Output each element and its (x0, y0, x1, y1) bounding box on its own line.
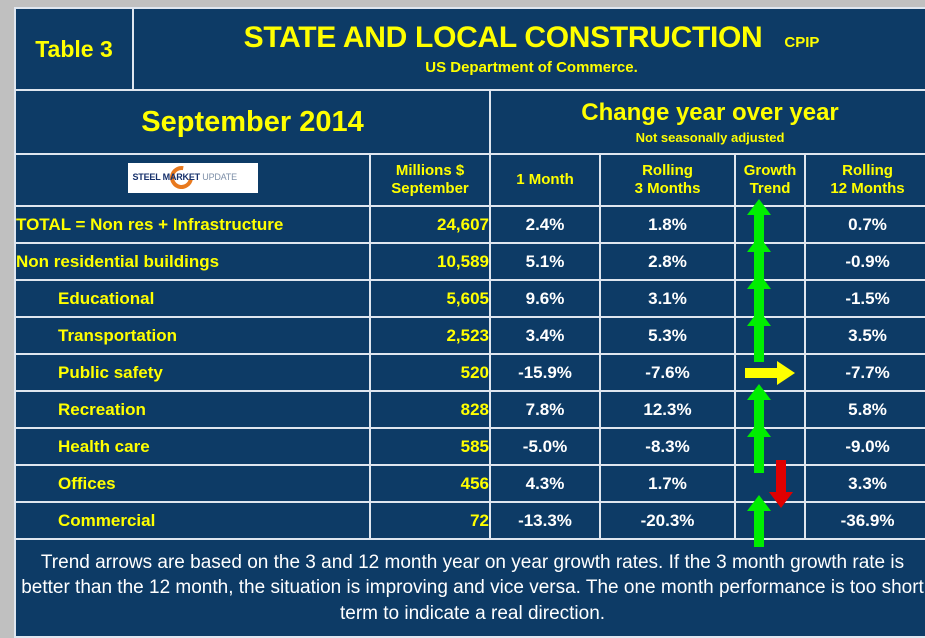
row-label: Recreation (15, 391, 370, 428)
row-rolling-3-months: 1.8% (600, 206, 735, 243)
column-header-amount-line1: Millions $ (371, 162, 489, 180)
row-growth-trend (735, 317, 805, 354)
column-header-amount-line2: September (371, 180, 489, 198)
logo-cell: STEEL MARKET UPDATE (15, 154, 370, 206)
row-rolling-3-months: -20.3% (600, 502, 735, 539)
row-one-month: 9.6% (490, 280, 600, 317)
column-header-growth-line1: Growth (736, 162, 804, 180)
row-rolling-12-months: -36.9% (805, 502, 925, 539)
row-one-month: -5.0% (490, 428, 600, 465)
period-label: September 2014 (16, 106, 489, 139)
row-label: Public safety (15, 354, 370, 391)
row-one-month: 5.1% (490, 243, 600, 280)
table-row: Offices4564.3%1.7%3.3% (15, 465, 925, 502)
cpip-label: CPIP (762, 34, 819, 51)
row-rolling-12-months: 0.7% (805, 206, 925, 243)
column-header-rolling-3-months: Rolling 3 Months (600, 154, 735, 206)
title-subtitle: US Department of Commerce. (134, 59, 925, 76)
table-row: Public safety520-15.9%-7.6%-7.7% (15, 354, 925, 391)
table-row: Non residential buildings10,5895.1%2.8%-… (15, 243, 925, 280)
logo-word-update: UPDATE (202, 172, 237, 182)
period-row: September 2014 Change year over year Not… (15, 90, 925, 154)
column-header-rolling12-line2: 12 Months (806, 180, 925, 198)
column-header-amount: Millions $ September (370, 154, 490, 206)
row-rolling-12-months: 3.3% (805, 465, 925, 502)
row-rolling-3-months: 3.1% (600, 280, 735, 317)
row-rolling-3-months: 12.3% (600, 391, 735, 428)
row-amount: 828 (370, 391, 490, 428)
trend-up-arrow-icon (746, 494, 772, 548)
row-label: Educational (15, 280, 370, 317)
row-label: TOTAL = Non res + Infrastructure (15, 206, 370, 243)
row-amount: 72 (370, 502, 490, 539)
column-header-rolling12-line1: Rolling (806, 162, 925, 180)
row-amount: 585 (370, 428, 490, 465)
row-one-month: 3.4% (490, 317, 600, 354)
row-rolling-3-months: 5.3% (600, 317, 735, 354)
steel-market-update-logo: STEEL MARKET UPDATE (128, 163, 258, 193)
title-row: Table 3 STATE AND LOCAL CONSTRUCTIONCPIP… (15, 8, 925, 90)
period-cell: September 2014 (15, 90, 490, 154)
row-one-month: 2.4% (490, 206, 600, 243)
row-rolling-12-months: -1.5% (805, 280, 925, 317)
row-growth-trend (735, 502, 805, 539)
row-rolling-12-months: 3.5% (805, 317, 925, 354)
logo-word-steel: STEEL (133, 172, 161, 182)
column-header-rolling3-line1: Rolling (601, 162, 734, 180)
table-row: Recreation8287.8%12.3%5.8% (15, 391, 925, 428)
row-amount: 10,589 (370, 243, 490, 280)
row-rolling-12-months: -7.7% (805, 354, 925, 391)
table-row: TOTAL = Non res + Infrastructure24,6072.… (15, 206, 925, 243)
row-rolling-3-months: 2.8% (600, 243, 735, 280)
row-label: Offices (15, 465, 370, 502)
row-rolling-12-months: -9.0% (805, 428, 925, 465)
change-heading: Change year over year (491, 99, 925, 127)
row-amount: 5,605 (370, 280, 490, 317)
row-label: Commercial (15, 502, 370, 539)
title-cell: STATE AND LOCAL CONSTRUCTIONCPIP US Depa… (133, 8, 925, 90)
row-amount: 456 (370, 465, 490, 502)
row-one-month: 4.3% (490, 465, 600, 502)
construction-data-table: Table 3 STATE AND LOCAL CONSTRUCTIONCPIP… (14, 7, 925, 638)
logo-text: STEEL MARKET UPDATE (133, 172, 237, 182)
row-rolling-3-months: 1.7% (600, 465, 735, 502)
table-row: Educational5,6059.6%3.1%-1.5% (15, 280, 925, 317)
row-amount: 2,523 (370, 317, 490, 354)
page-title: STATE AND LOCAL CONSTRUCTION (244, 21, 763, 55)
row-rolling-12-months: -0.9% (805, 243, 925, 280)
row-one-month: 7.8% (490, 391, 600, 428)
trend-up-arrow-icon (746, 309, 772, 363)
table-number: Table 3 (15, 8, 133, 90)
row-rolling-3-months: -8.3% (600, 428, 735, 465)
footnote-text: Trend arrows are based on the 3 and 12 m… (15, 539, 925, 637)
logo-word-market: MARKET (163, 172, 200, 182)
change-heading-cell: Change year over year Not seasonally adj… (490, 90, 925, 154)
change-subheading: Not seasonally adjusted (491, 130, 925, 145)
column-header-rolling3-line2: 3 Months (601, 180, 734, 198)
row-amount: 24,607 (370, 206, 490, 243)
column-header-row: STEEL MARKET UPDATE Millions $ September… (15, 154, 925, 206)
column-header-rolling-12-months: Rolling 12 Months (805, 154, 925, 206)
row-label: Health care (15, 428, 370, 465)
table-board: Table 3 STATE AND LOCAL CONSTRUCTIONCPIP… (14, 7, 911, 607)
row-one-month: -13.3% (490, 502, 600, 539)
footnote-row: Trend arrows are based on the 3 and 12 m… (15, 539, 925, 637)
column-header-one-month: 1 Month (490, 154, 600, 206)
row-label: Non residential buildings (15, 243, 370, 280)
row-amount: 520 (370, 354, 490, 391)
column-header-growth-line2: Trend (736, 180, 804, 198)
row-label: Transportation (15, 317, 370, 354)
row-rolling-3-months: -7.6% (600, 354, 735, 391)
row-one-month: -15.9% (490, 354, 600, 391)
row-rolling-12-months: 5.8% (805, 391, 925, 428)
table-row: Transportation2,5233.4%5.3%3.5% (15, 317, 925, 354)
